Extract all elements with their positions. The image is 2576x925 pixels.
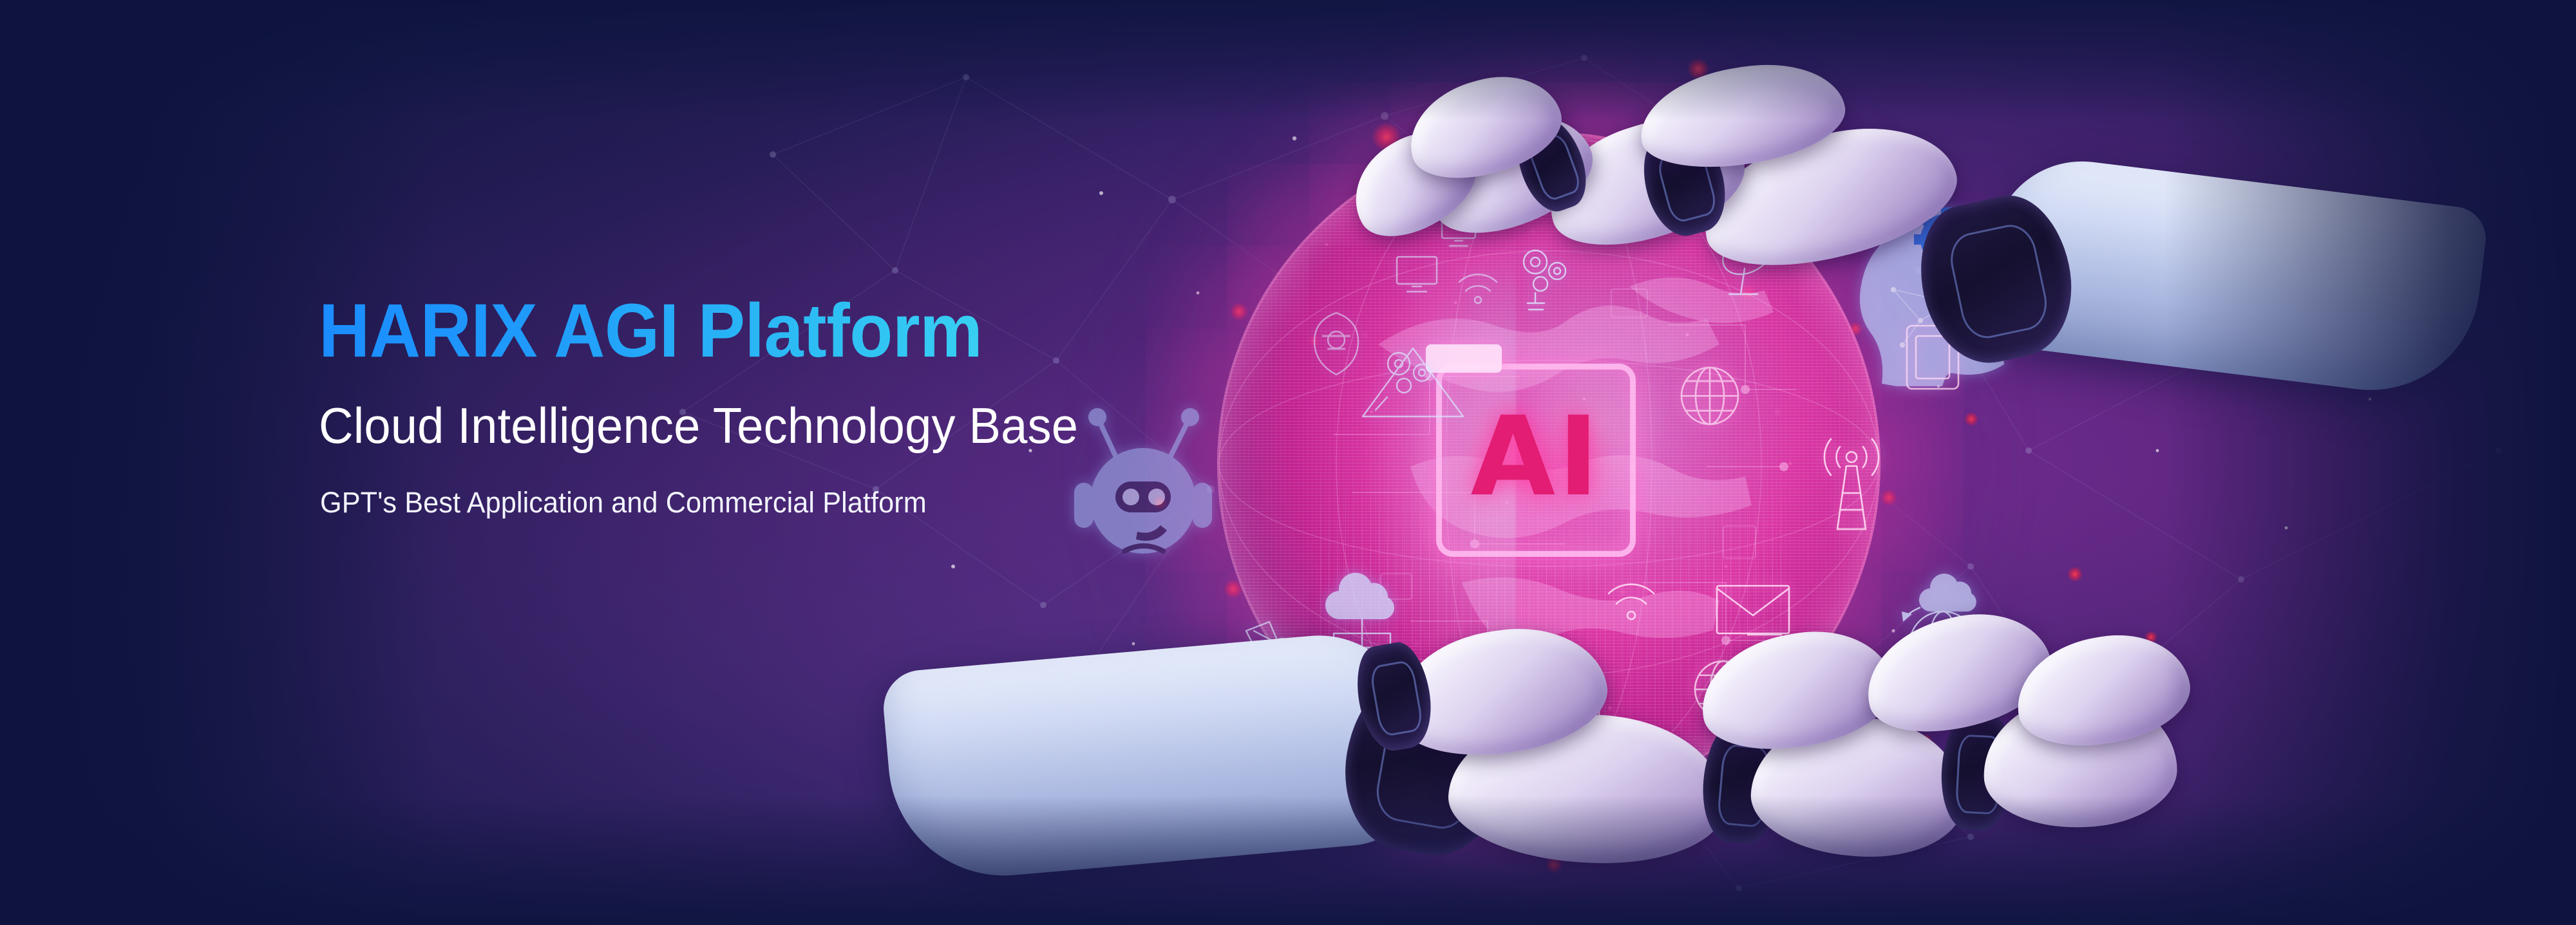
wifi-icon <box>1604 579 1659 622</box>
server-rack-icon <box>1359 338 1468 422</box>
monitor-icon <box>1394 254 1439 294</box>
hero-text-block: HARIX AGI Platform Cloud Intelligence Te… <box>319 291 1220 519</box>
wifi-icon <box>1455 270 1501 306</box>
hero-banner: AI <box>0 0 2576 925</box>
antenna-tower-icon <box>1806 438 1897 534</box>
hero-subheading: Cloud Intelligence Technology Base <box>319 398 1175 454</box>
brain-circuit-icon <box>1674 360 1745 431</box>
page-title: HARIX AGI Platform <box>319 291 1157 371</box>
envelope-icon <box>1713 579 1797 641</box>
lightbulb-gears-icon <box>1507 241 1584 319</box>
hero-tagline: GPT's Best Application and Commercial Pl… <box>320 486 1184 519</box>
